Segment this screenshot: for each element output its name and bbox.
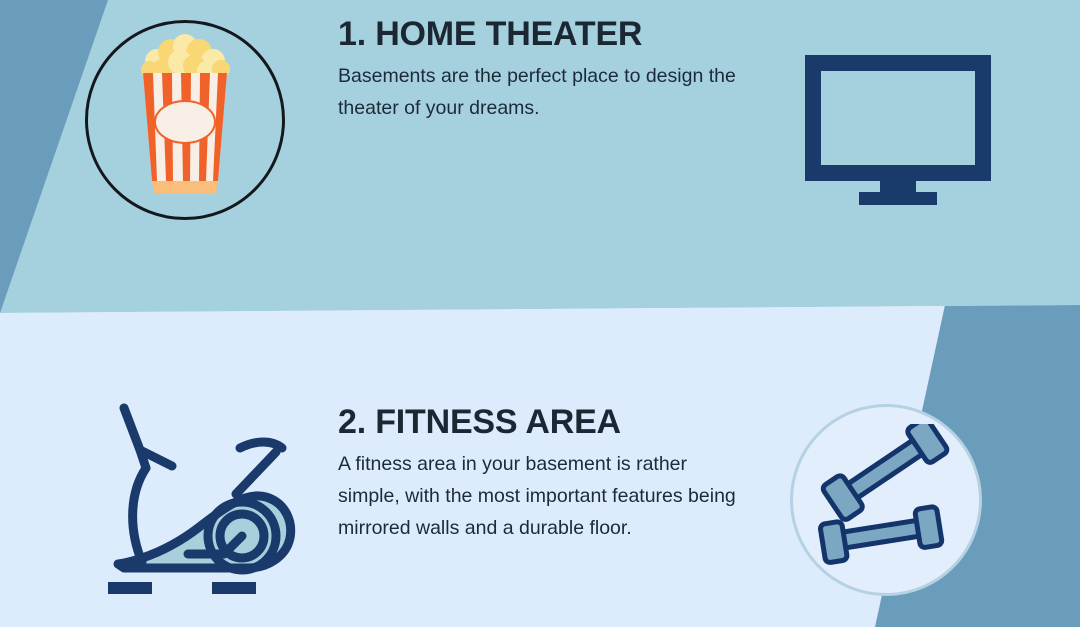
text-block-home-theater: 1. HOME THEATER Basements are the perfec… — [338, 16, 738, 125]
exercise-bike-icon — [90, 396, 310, 600]
infographic-canvas: 1. HOME THEATER Basements are the perfec… — [0, 0, 1080, 627]
popcorn-icon — [133, 33, 237, 193]
dumbbells-icon — [812, 424, 962, 574]
text-block-fitness-area: 2. FITNESS AREA A fitness area in your b… — [338, 404, 738, 544]
section-body-fitness-area: A fitness area in your basement is rathe… — [338, 449, 738, 544]
television-icon — [803, 53, 993, 205]
section-body-home-theater: Basements are the perfect place to desig… — [338, 61, 738, 124]
section-heading-home-theater: 1. HOME THEATER — [338, 16, 738, 53]
section-heading-fitness-area: 2. FITNESS AREA — [338, 404, 738, 441]
